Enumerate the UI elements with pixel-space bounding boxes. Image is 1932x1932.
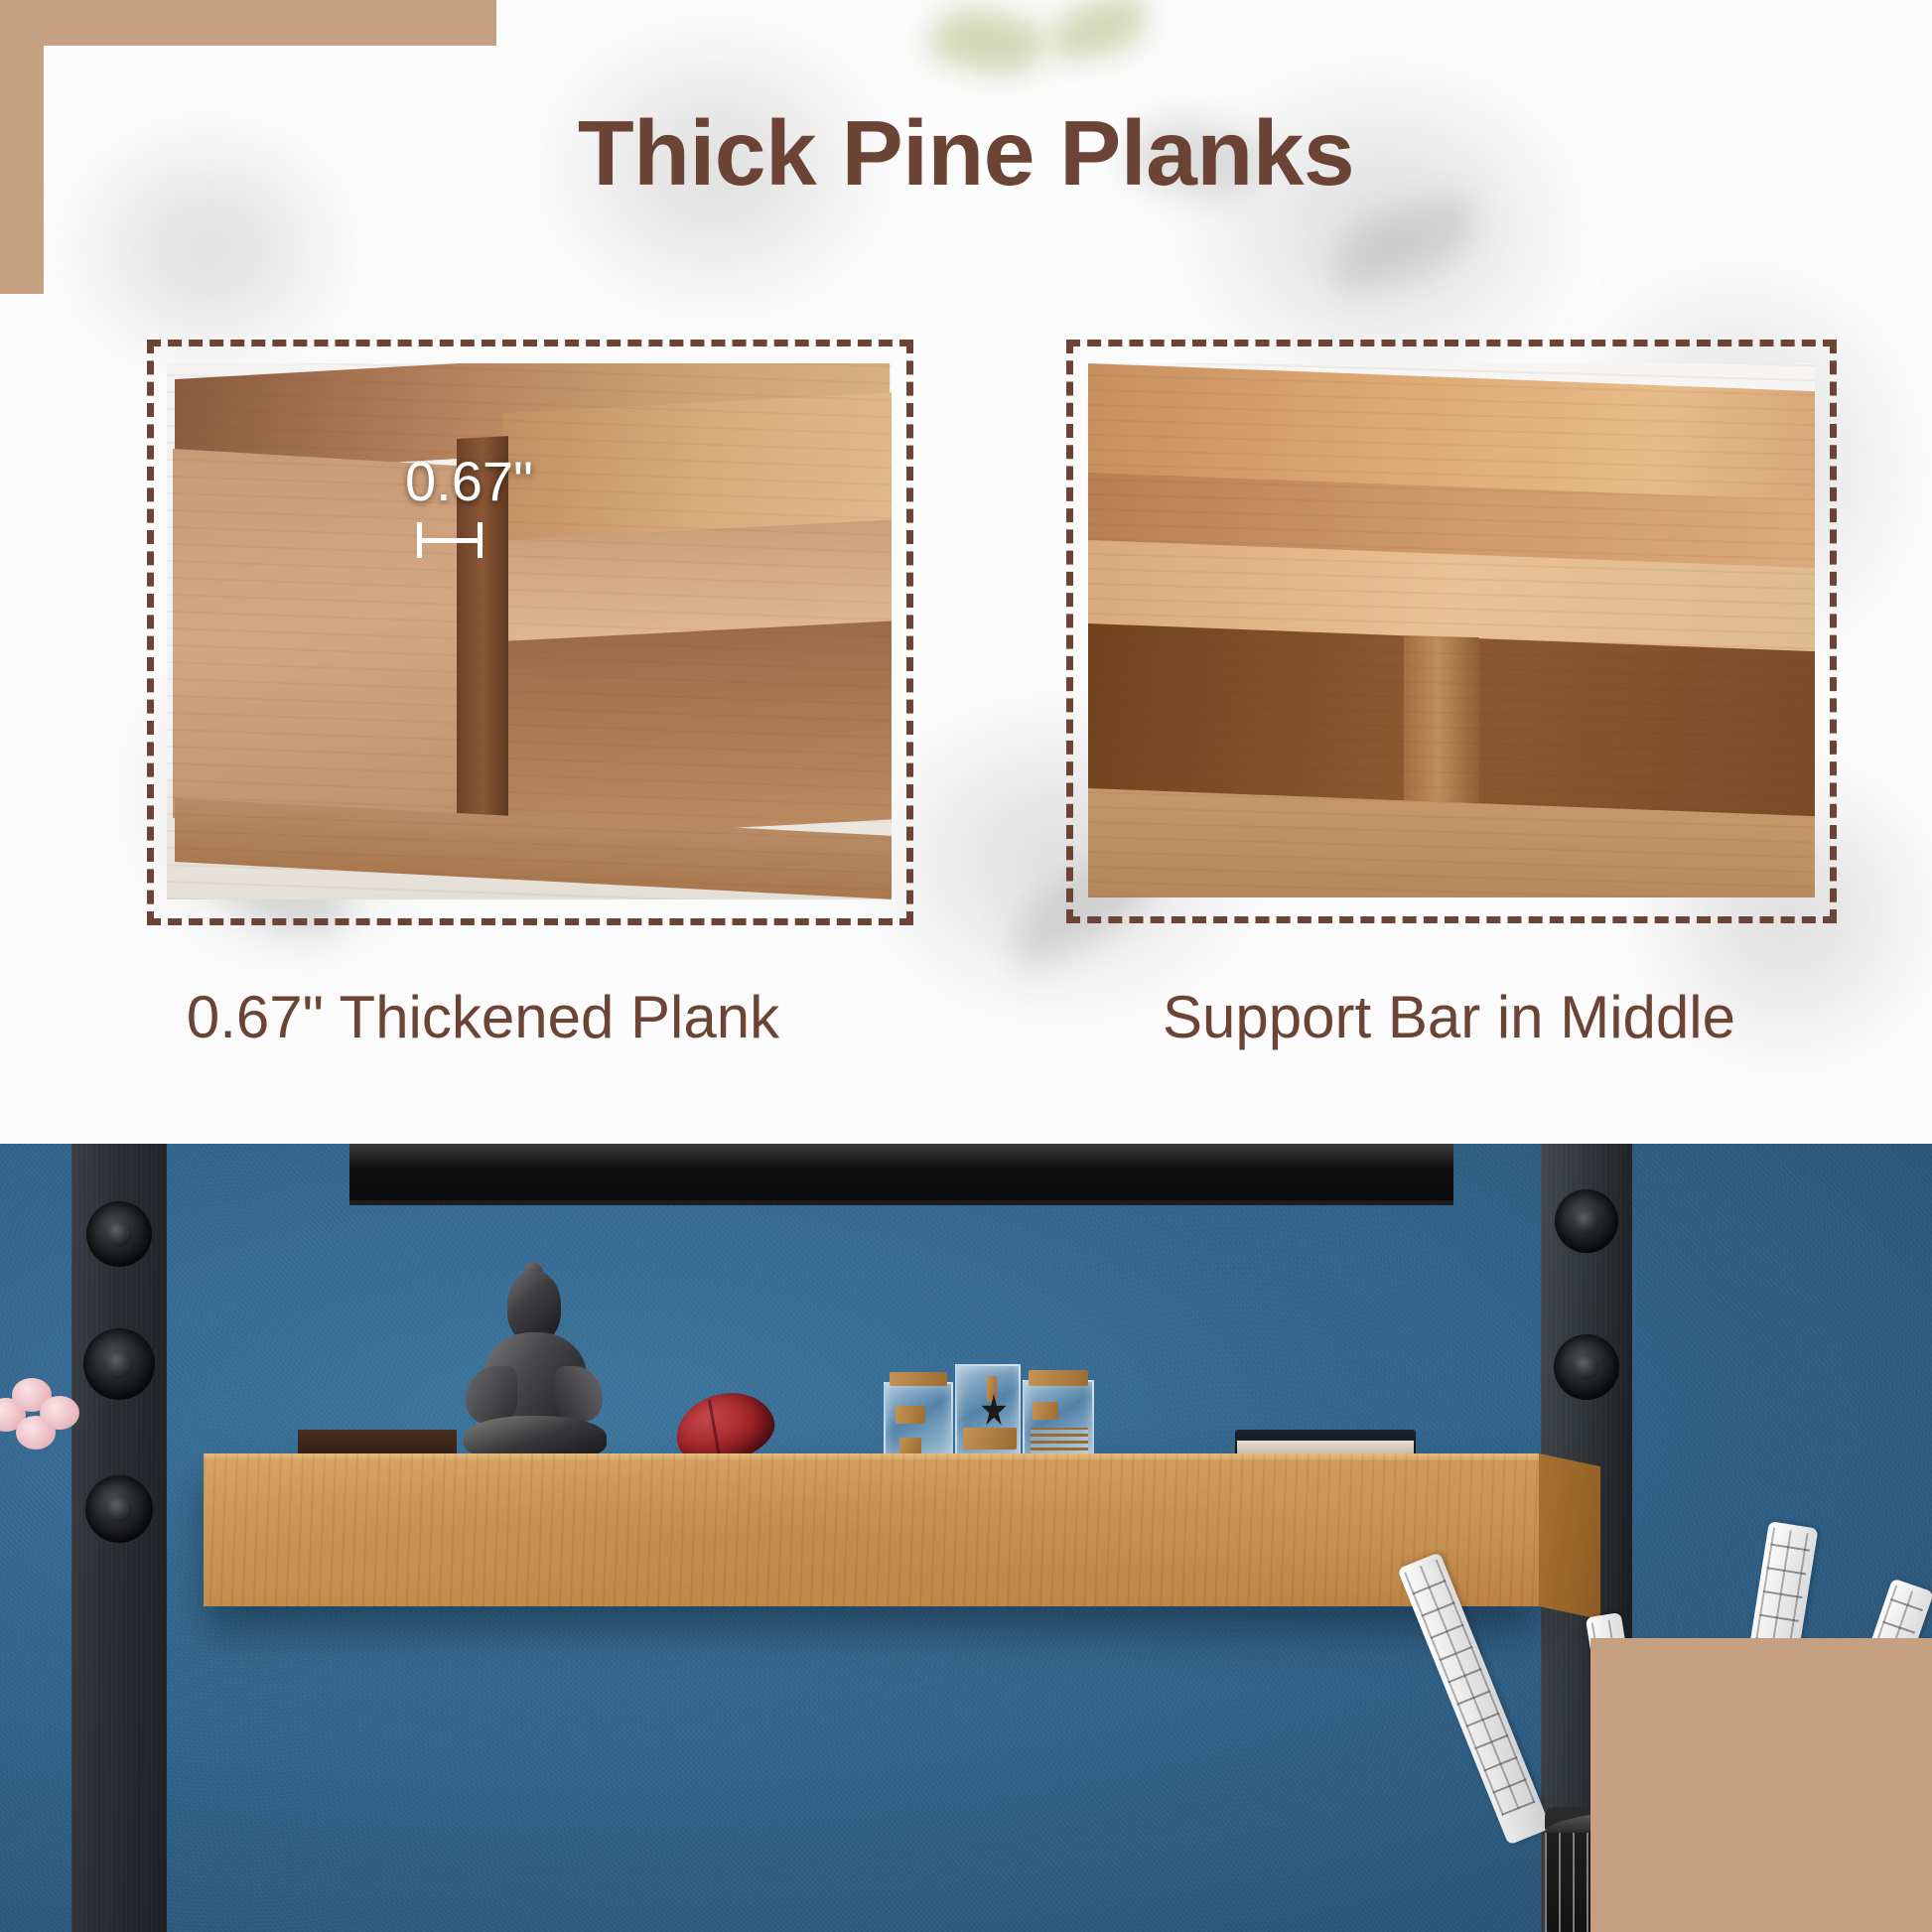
feature-card-thickened-plank: 0.67" — [167, 363, 892, 899]
feature-caption-support-bar: Support Bar in Middle — [966, 983, 1932, 1051]
support-bar — [1404, 635, 1479, 822]
feature-caption-thickened-plank: 0.67" Thickened Plank — [0, 983, 966, 1051]
floating-shelf — [204, 1453, 1539, 1606]
glass-decor-cluster — [884, 1360, 1097, 1459]
lifestyle-photo — [0, 1144, 1932, 1932]
thickness-callout-label: 0.67" — [405, 449, 533, 513]
buddha-statue — [452, 1271, 616, 1459]
page-title: Thick Pine Planks — [0, 103, 1932, 203]
cherry-blossom — [0, 1378, 81, 1457]
corner-block-accent — [1590, 1638, 1932, 1932]
thickened-plank-photo: 0.67" — [167, 363, 892, 899]
feature-panel: Thick Pine Planks 0.67" — [0, 0, 1932, 1144]
support-bar-photo — [1088, 363, 1815, 897]
thickness-measure-icon — [417, 522, 483, 558]
book — [1235, 1430, 1416, 1455]
feature-card-support-bar — [1088, 363, 1815, 897]
speaker-tower-left — [71, 1144, 167, 1932]
tv-panel — [349, 1144, 1453, 1205]
